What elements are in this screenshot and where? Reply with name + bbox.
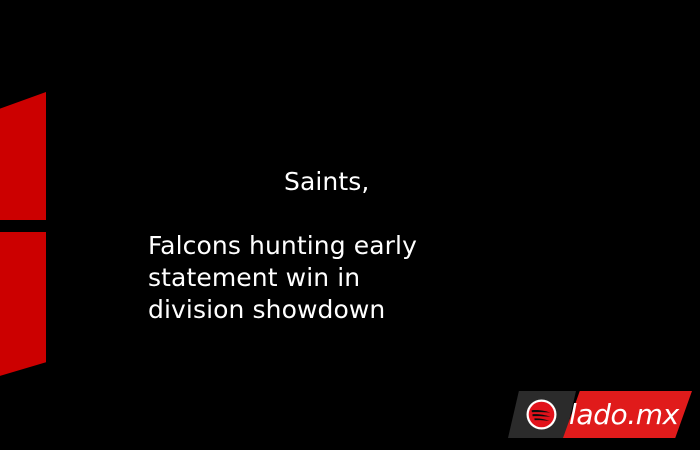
headline-first-line: Saints, <box>148 166 548 198</box>
accent-shape-top <box>0 92 46 220</box>
site-logo[interactable]: lado.mx <box>508 391 692 438</box>
headline-remaining-lines: Falcons hunting early statement win in d… <box>148 230 548 326</box>
logo-wordmark: lado.mx <box>569 398 687 431</box>
lado-circle-swoosh-icon <box>526 399 557 430</box>
headline: Saints, Falcons hunting early statement … <box>148 134 548 358</box>
accent-shape-bottom <box>0 232 46 380</box>
article-thumbnail-card: Saints, Falcons hunting early statement … <box>0 0 700 450</box>
